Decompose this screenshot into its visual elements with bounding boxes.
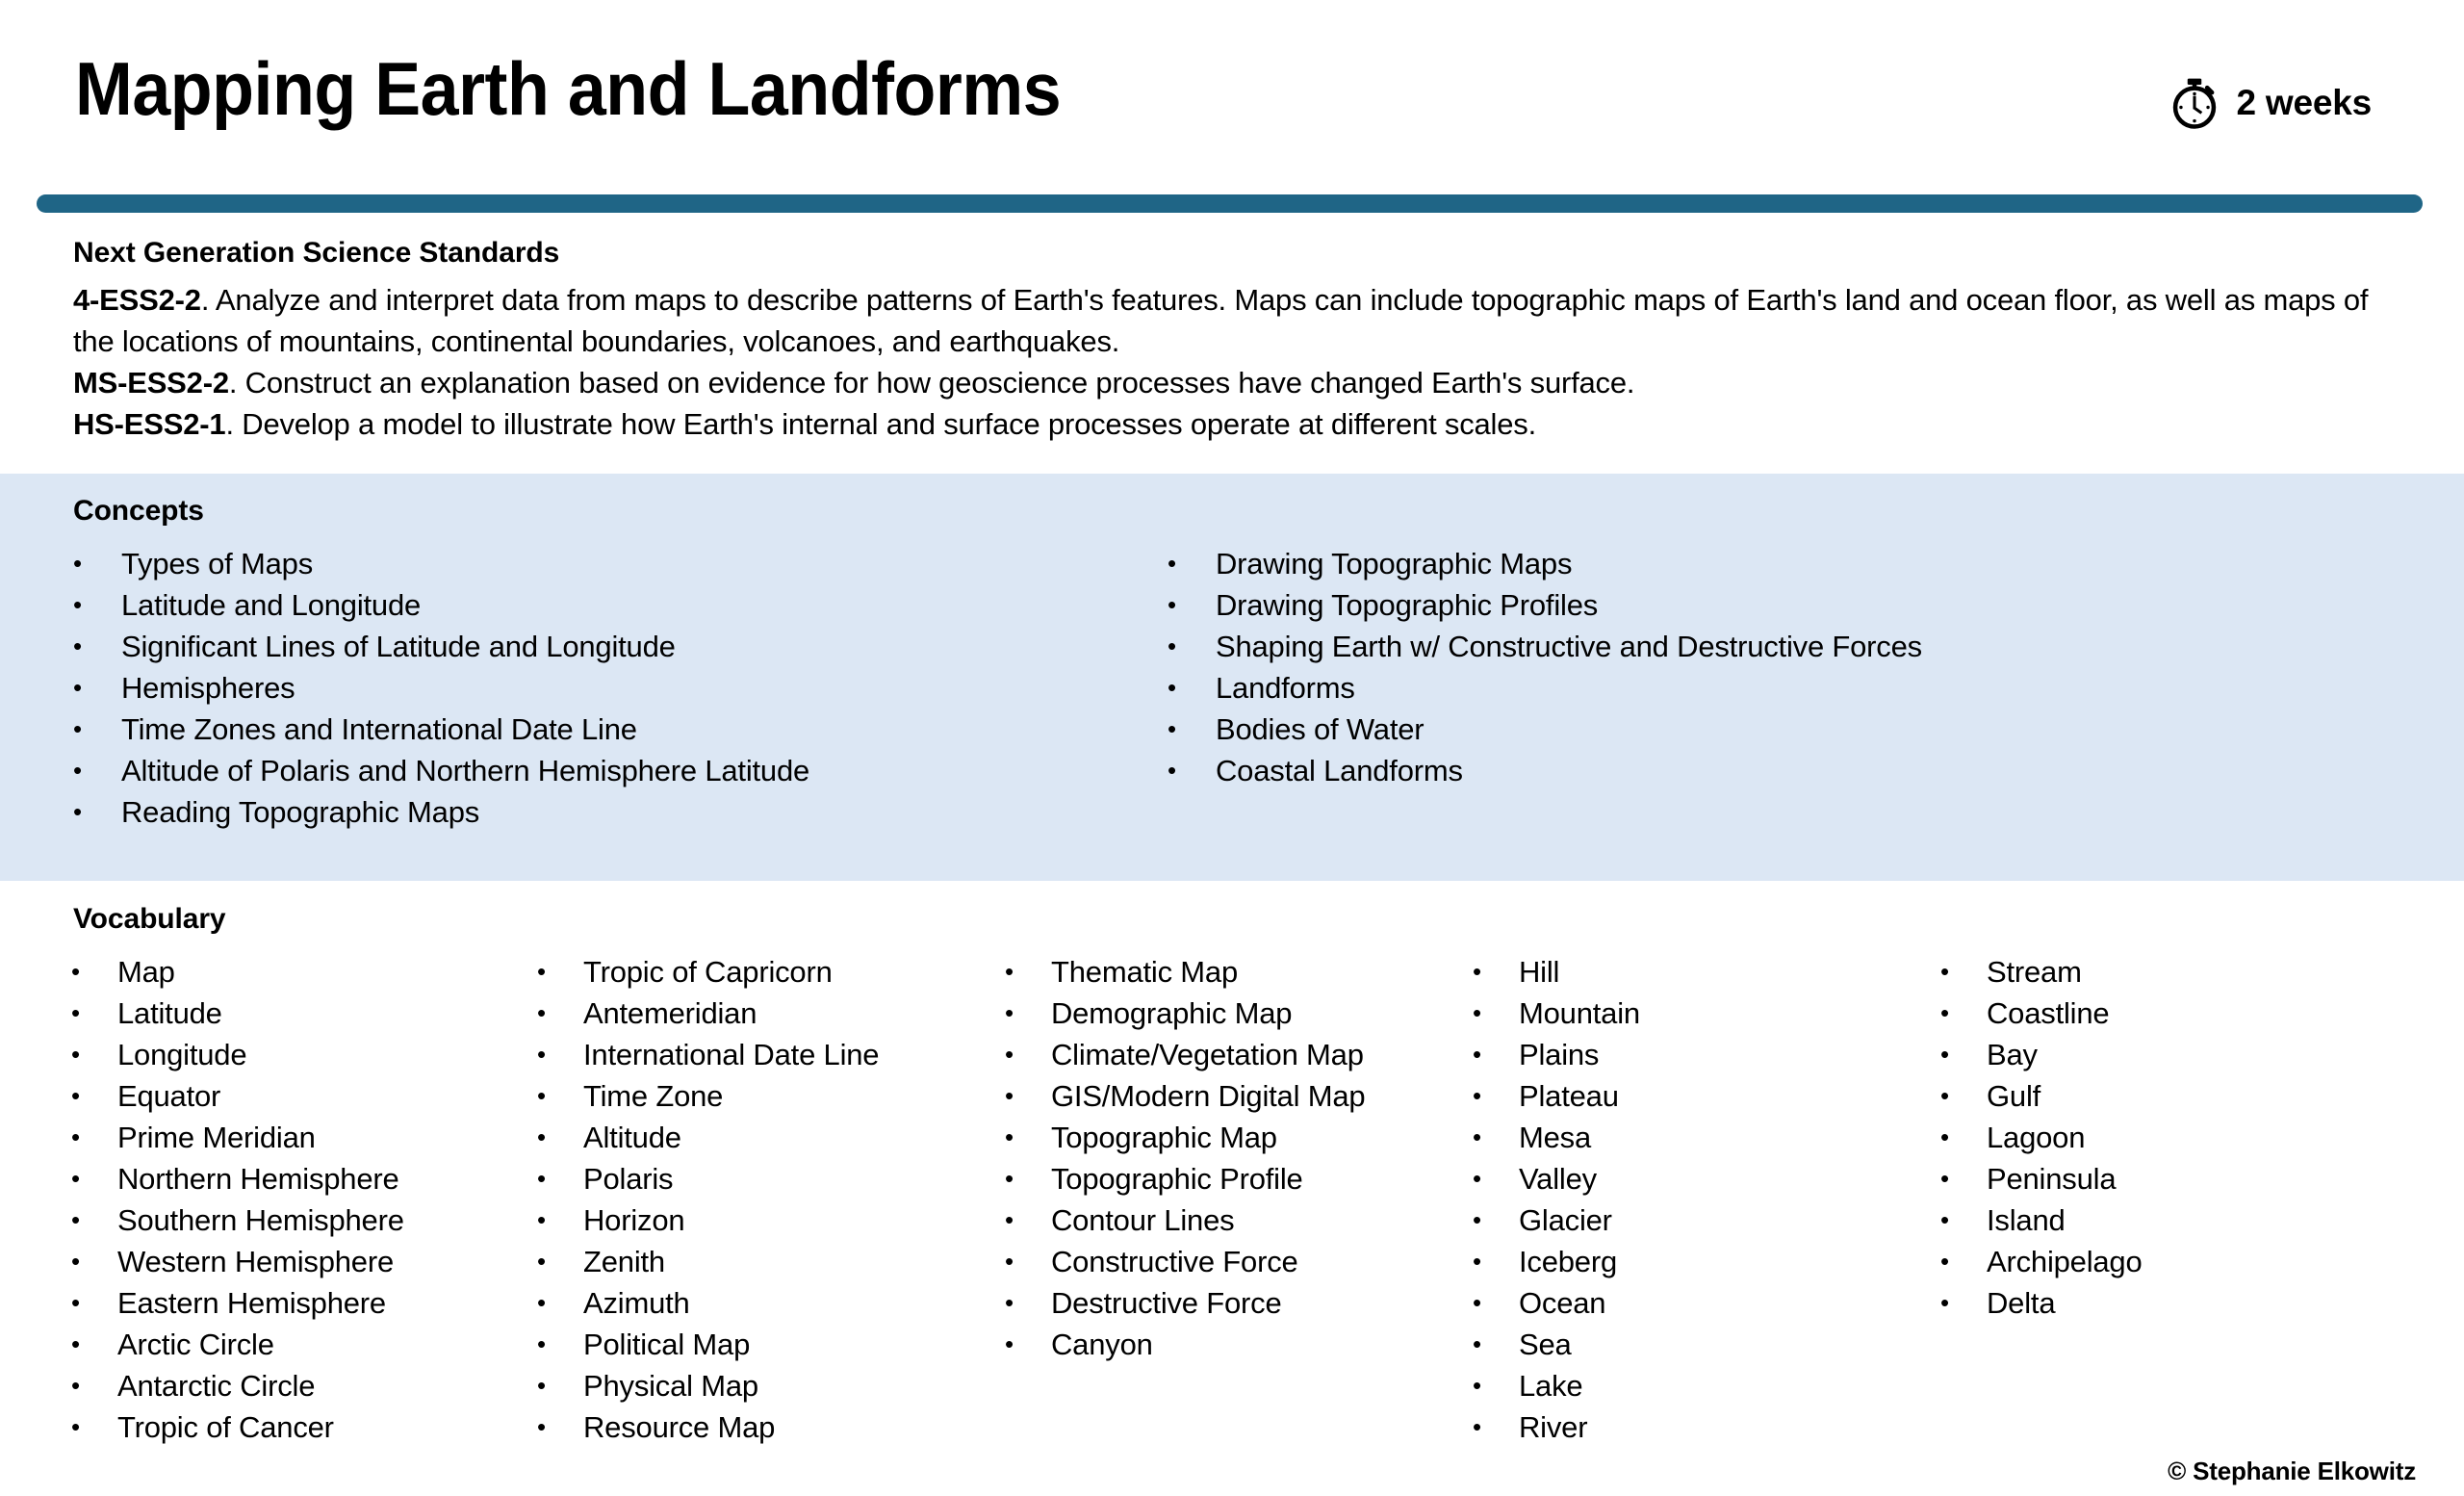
ngss-standard-code: MS-ESS2-2 [73,366,229,400]
list-item: Topographic Map [995,1117,1428,1158]
vocabulary-column-4: HillMountainPlainsPlateauMesaValleyGlaci… [1428,951,1896,1448]
list-item: Altitude [527,1117,961,1158]
list-item: Latitude and Longitude [62,584,1155,626]
list-item: Island [1931,1199,2368,1241]
list-item: Longitude [62,1034,493,1075]
list-item: Landforms [1156,667,2406,709]
list-item: Southern Hemisphere [62,1199,493,1241]
list-item: Time Zone [527,1075,961,1117]
list-item: Thematic Map [995,951,1428,993]
list-item: Climate/Vegetation Map [995,1034,1428,1075]
concepts-column-1: Types of MapsLatitude and LongitudeSigni… [0,543,1155,833]
list-item: Physical Map [527,1365,961,1406]
vocabulary-column-2: Tropic of CapricornAntemeridianInternati… [493,951,961,1448]
list-item: Political Map [527,1324,961,1365]
list-item: Gulf [1931,1075,2368,1117]
vocabulary-columns: MapLatitudeLongitudeEquatorPrime Meridia… [0,951,2464,1448]
vocabulary-column-5: StreamCoastlineBayGulfLagoonPeninsulaIsl… [1896,951,2368,1448]
list-item: Bodies of Water [1156,709,2406,750]
list-item: Zenith [527,1241,961,1282]
ngss-standard-text: . Construct an explanation based on evid… [229,366,1634,400]
list-item: Ocean [1463,1282,1896,1324]
page-header: Mapping Earth and Landforms 2 weeks [0,0,2464,183]
ngss-standard-code: HS-ESS2-1 [73,407,225,441]
accent-divider [37,194,2423,213]
list-item: Archipelago [1931,1241,2368,1282]
list-item: Peninsula [1931,1158,2368,1199]
concepts-heading: Concepts [73,495,204,528]
ngss-standard-text: . Develop a model to illustrate how Eart… [225,407,1536,441]
list-item: Antarctic Circle [62,1365,493,1406]
stopwatch-icon [2167,75,2222,131]
ngss-standard-code: 4-ESS2-2 [73,283,201,317]
list-item: Plains [1463,1034,1896,1075]
list-item: Latitude [62,993,493,1034]
list-item: Sea [1463,1324,1896,1365]
list-item: Bay [1931,1034,2368,1075]
list-item: Drawing Topographic Profiles [1156,584,2406,626]
list-item: Northern Hemisphere [62,1158,493,1199]
concepts-columns: Types of MapsLatitude and LongitudeSigni… [0,543,2464,833]
list-item: Map [62,951,493,993]
list-item: Mountain [1463,993,1896,1034]
list-item: Valley [1463,1158,1896,1199]
vocabulary-heading: Vocabulary [73,903,226,936]
list-item: Polaris [527,1158,961,1199]
ngss-standard-text: . Analyze and interpret data from maps t… [73,283,2368,358]
list-item: Drawing Topographic Maps [1156,543,2406,584]
list-item: Stream [1931,951,2368,993]
list-item: Hemispheres [62,667,1155,709]
list-item: Lake [1463,1365,1896,1406]
list-item: Reading Topographic Maps [62,791,1155,833]
list-item: Constructive Force [995,1241,1428,1282]
list-item: River [1463,1406,1896,1448]
list-item: Demographic Map [995,993,1428,1034]
list-item: Contour Lines [995,1199,1428,1241]
list-item: Glacier [1463,1199,1896,1241]
concepts-column-2: Drawing Topographic MapsDrawing Topograp… [1155,543,2406,833]
list-item: Resource Map [527,1406,961,1448]
ngss-section: Next Generation Science Standards 4-ESS2… [73,235,2402,445]
list-item: Hill [1463,951,1896,993]
list-item: Iceberg [1463,1241,1896,1282]
page-title: Mapping Earth and Landforms [75,46,1061,131]
ngss-heading: Next Generation Science Standards [73,235,2402,271]
vocabulary-column-1: MapLatitudeLongitudeEquatorPrime Meridia… [0,951,493,1448]
list-item: Western Hemisphere [62,1241,493,1282]
list-item: Prime Meridian [62,1117,493,1158]
list-item: Canyon [995,1324,1428,1365]
ngss-standard: HS-ESS2-1. Develop a model to illustrate… [73,403,2402,445]
list-item: Horizon [527,1199,961,1241]
list-item: Topographic Profile [995,1158,1428,1199]
list-item: Significant Lines of Latitude and Longit… [62,626,1155,667]
list-item: Mesa [1463,1117,1896,1158]
list-item: Altitude of Polaris and Northern Hemisph… [62,750,1155,791]
list-item: Equator [62,1075,493,1117]
list-item: Tropic of Cancer [62,1406,493,1448]
list-item: Antemeridian [527,993,961,1034]
list-item: Azimuth [527,1282,961,1324]
list-item: Types of Maps [62,543,1155,584]
list-item: Plateau [1463,1075,1896,1117]
list-item: Shaping Earth w/ Constructive and Destru… [1156,626,2406,667]
list-item: Coastline [1931,993,2368,1034]
duration-label: 2 weeks [2236,83,2372,123]
concepts-section: Concepts Types of MapsLatitude and Longi… [0,474,2464,881]
list-item: Tropic of Capricorn [527,951,961,993]
copyright-notice: © Stephanie Elkowitz [2168,1457,2416,1486]
lesson-overview-page: Mapping Earth and Landforms 2 weeks Next… [0,0,2464,1496]
list-item: Delta [1931,1282,2368,1324]
list-item: Time Zones and International Date Line [62,709,1155,750]
list-item: Coastal Landforms [1156,750,2406,791]
list-item: Eastern Hemisphere [62,1282,493,1324]
list-item: Lagoon [1931,1117,2368,1158]
duration-badge: 2 weeks [2167,75,2372,131]
list-item: GIS/Modern Digital Map [995,1075,1428,1117]
ngss-standard: MS-ESS2-2. Construct an explanation base… [73,362,2402,403]
ngss-standard: 4-ESS2-2. Analyze and interpret data fro… [73,279,2402,362]
list-item: Destructive Force [995,1282,1428,1324]
vocabulary-column-3: Thematic MapDemographic MapClimate/Veget… [961,951,1428,1448]
list-item: Arctic Circle [62,1324,493,1365]
list-item: International Date Line [527,1034,961,1075]
